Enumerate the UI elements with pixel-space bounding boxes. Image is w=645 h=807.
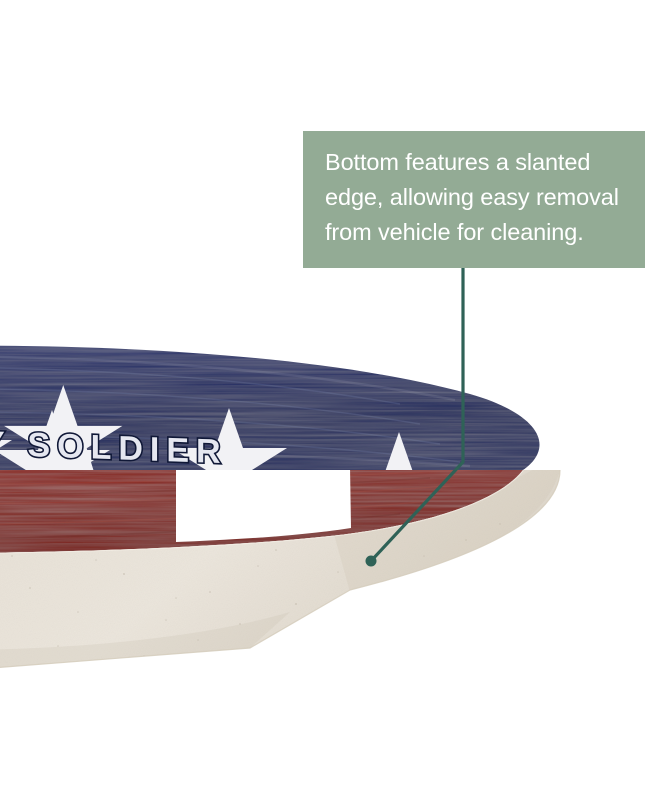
callout-line-2: edge, allowing easy removal [325, 184, 619, 210]
flag-white-stripe [176, 466, 351, 542]
product-illustration: Y SOLDIER [0, 0, 645, 807]
callout-line-1: Bottom features a slanted [325, 149, 590, 175]
product-image: Y SOLDIER [0, 0, 645, 807]
feature-callout-text: Bottom features a slanted edge, allowing… [325, 145, 645, 250]
callout-line-3: from vehicle for cleaning. [325, 219, 584, 245]
feature-callout-box: Bottom features a slanted edge, allowing… [303, 131, 645, 268]
screenshot-canvas: Y SOLDIER [0, 0, 645, 807]
